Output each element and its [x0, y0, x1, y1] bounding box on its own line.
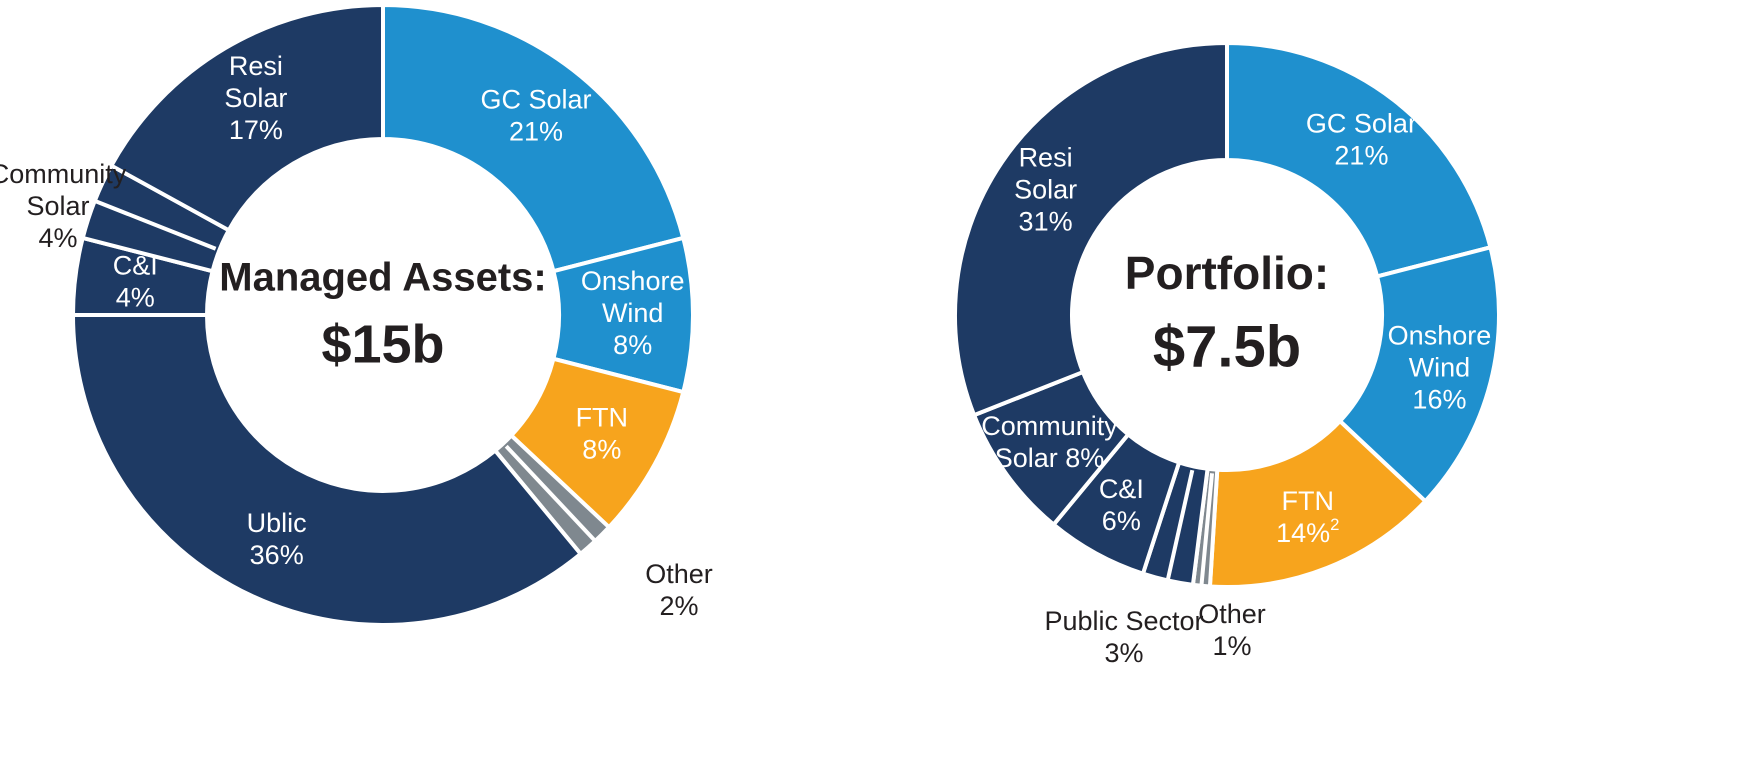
donut-center-title: Portfolio:	[1125, 247, 1329, 299]
donut-chart-portfolio: GC Solar21%OnshoreWind16%FTN14%2Other1%P…	[955, 43, 1499, 668]
donut-center-title: Managed Assets:	[219, 256, 547, 300]
donut-charts-svg: GC Solar21%OnshoreWind8%FTN8%Other2%Ubli…	[0, 0, 1739, 766]
slice-label-other: Other2%	[645, 559, 713, 621]
slice-label-resi-solar: ResiSolar31%	[1014, 143, 1077, 237]
slice-label-public-sector: Public Sector3%	[1044, 606, 1203, 668]
donut-center-value: $15b	[321, 314, 444, 374]
chart-canvas: GC Solar21%OnshoreWind8%FTN8%Other2%Ubli…	[0, 0, 1739, 766]
donut-center-value: $7.5b	[1153, 314, 1301, 379]
slice-label-other: Other1%	[1198, 599, 1266, 661]
donut-chart-managed-assets: GC Solar21%OnshoreWind8%FTN8%Other2%Ubli…	[0, 5, 713, 625]
slice-label-resi-solar: ResiSolar17%	[224, 51, 287, 145]
